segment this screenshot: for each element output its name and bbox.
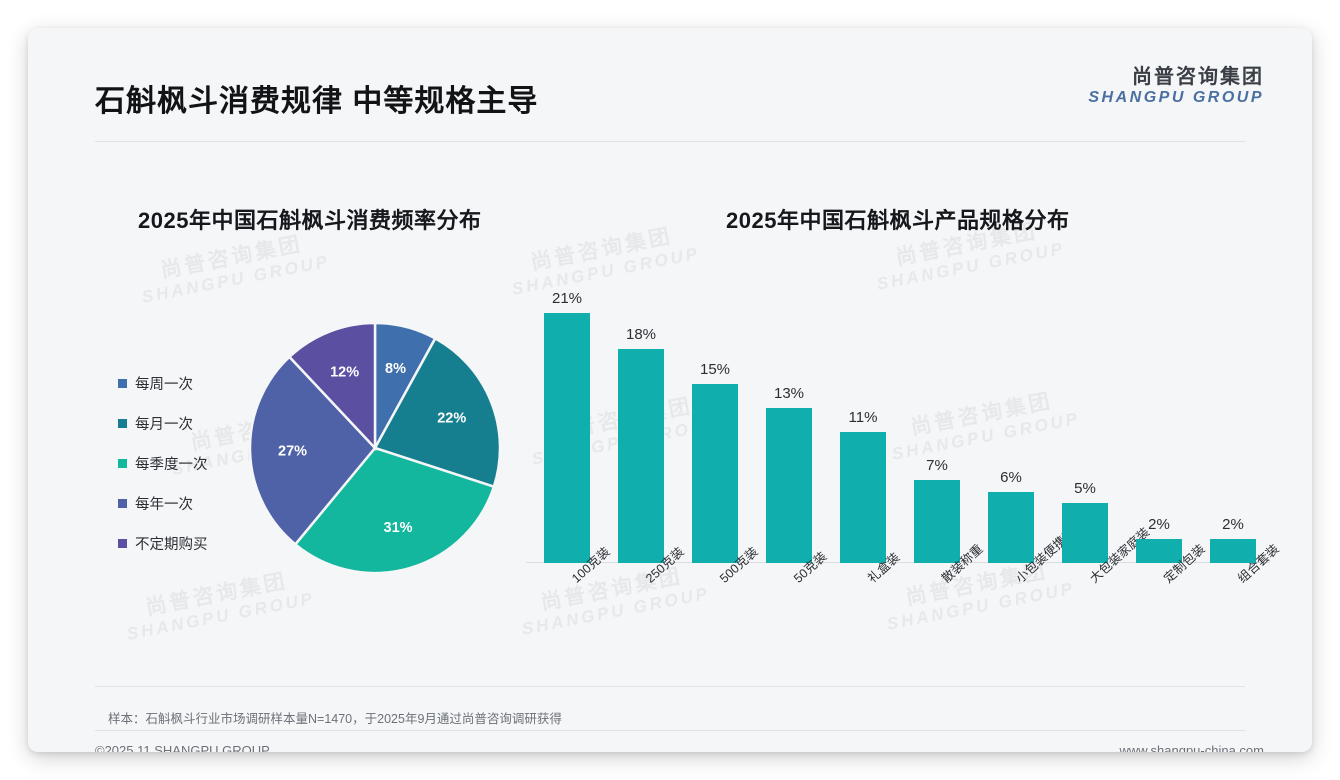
legend-swatch-icon [118, 459, 127, 468]
bar-column[interactable]: 5%大包装家庭装 [1062, 503, 1108, 563]
bar-column[interactable]: 11%礼盒装 [840, 432, 886, 563]
bar-column[interactable]: 6%小包装便携装 [988, 492, 1034, 563]
footnote-divider [95, 686, 1245, 687]
bar-rect[interactable] [618, 349, 664, 563]
pie-legend-item[interactable]: 每年一次 [118, 483, 258, 523]
bar-value-label: 15% [700, 361, 730, 378]
watermark-cn: 尚普咨询集团 [506, 220, 698, 280]
bar-column[interactable]: 7%散装称重 [914, 480, 960, 563]
website-url[interactable]: www.shangpu-china.com [1119, 743, 1264, 752]
pie-chart: 每周一次每月一次每季度一次每年一次不定期购买 8%22%31%27%12% [88, 268, 528, 608]
bar-column[interactable]: 2%定制包装 [1136, 539, 1182, 563]
pie-chart-title: 2025年中国石斛枫斗消费频率分布 [138, 203, 481, 235]
bar-value-label: 5% [1074, 480, 1096, 497]
bar-chart: 21%100克装18%250克装15%500克装13%50克装11%礼盒装7%散… [518, 278, 1278, 668]
bar-value-label: 6% [1000, 469, 1022, 486]
legend-swatch-icon [118, 499, 127, 508]
bar-rect[interactable] [1062, 503, 1108, 563]
brand-logo-en: SHANGPU GROUP [1088, 89, 1264, 107]
bar-chart-title: 2025年中国石斛枫斗产品规格分布 [726, 203, 1069, 235]
pie-slice-label: 12% [330, 364, 359, 380]
pie-legend-label: 不定期购买 [135, 533, 208, 554]
slide-header: 石斛枫斗消费规律 中等规格主导 尚普咨询集团 SHANGPU GROUP [28, 28, 1312, 120]
bar-value-label: 11% [849, 409, 878, 426]
header-divider [95, 141, 1245, 142]
bar-column[interactable]: 13%50克装 [766, 408, 812, 563]
legend-swatch-icon [118, 539, 127, 548]
pie-legend-label: 每周一次 [135, 373, 193, 394]
legend-swatch-icon [118, 419, 127, 428]
bar-rect[interactable] [914, 480, 960, 563]
legend-swatch-icon [118, 379, 127, 388]
brand-logo-cn: 尚普咨询集团 [1088, 66, 1264, 89]
pie-legend-label: 每月一次 [135, 413, 193, 434]
pie-legend-item[interactable]: 每月一次 [118, 403, 258, 443]
bar-value-label: 2% [1222, 516, 1244, 533]
pie-legend-item[interactable]: 每周一次 [118, 363, 258, 403]
bar-rect[interactable] [692, 384, 738, 563]
copyright-text: ©2025.11 SHANGPU GROUP [95, 743, 270, 752]
bar-value-label: 18% [626, 326, 656, 343]
footer-divider [95, 730, 1245, 731]
bar-column[interactable]: 2%组合套装 [1210, 539, 1256, 563]
pie-slice-label: 27% [278, 444, 307, 460]
pie-legend-label: 每年一次 [135, 493, 193, 514]
bar-value-label: 13% [774, 385, 804, 402]
pie-svg: 8%22%31%27%12% [240, 308, 510, 588]
pie-legend-item[interactable]: 不定期购买 [118, 523, 258, 563]
bar-value-label: 21% [552, 290, 582, 307]
pie-legend-label: 每季度一次 [135, 453, 208, 474]
page-title: 石斛枫斗消费规律 中等规格主导 [95, 76, 538, 120]
pie-slice-label: 31% [384, 520, 413, 536]
bar-value-label: 7% [926, 457, 948, 474]
bar-value-label: 2% [1148, 516, 1170, 533]
bar-rect[interactable] [988, 492, 1034, 563]
sample-footnote: 样本：石斛枫斗行业市场调研样本量N=1470，于2025年9月通过尚普咨询调研获… [108, 708, 562, 727]
pie-slice-label: 8% [385, 361, 406, 377]
pie-legend-item[interactable]: 每季度一次 [118, 443, 258, 483]
brand-logo: 尚普咨询集团 SHANGPU GROUP [1088, 66, 1264, 107]
bar-column[interactable]: 18%250克装 [618, 349, 664, 563]
bar-column[interactable]: 15%500克装 [692, 384, 738, 563]
pie-legend: 每周一次每月一次每季度一次每年一次不定期购买 [118, 363, 258, 563]
slide-canvas: 尚普咨询集团 SHANGPU GROUP 尚普咨询集团 SHANGPU GROU… [28, 28, 1312, 752]
bar-rect[interactable] [840, 432, 886, 563]
pie-slice-label: 22% [437, 411, 466, 427]
bar-column[interactable]: 21%100克装 [544, 313, 590, 563]
bar-rect[interactable] [766, 408, 812, 563]
bar-rect[interactable] [544, 313, 590, 563]
